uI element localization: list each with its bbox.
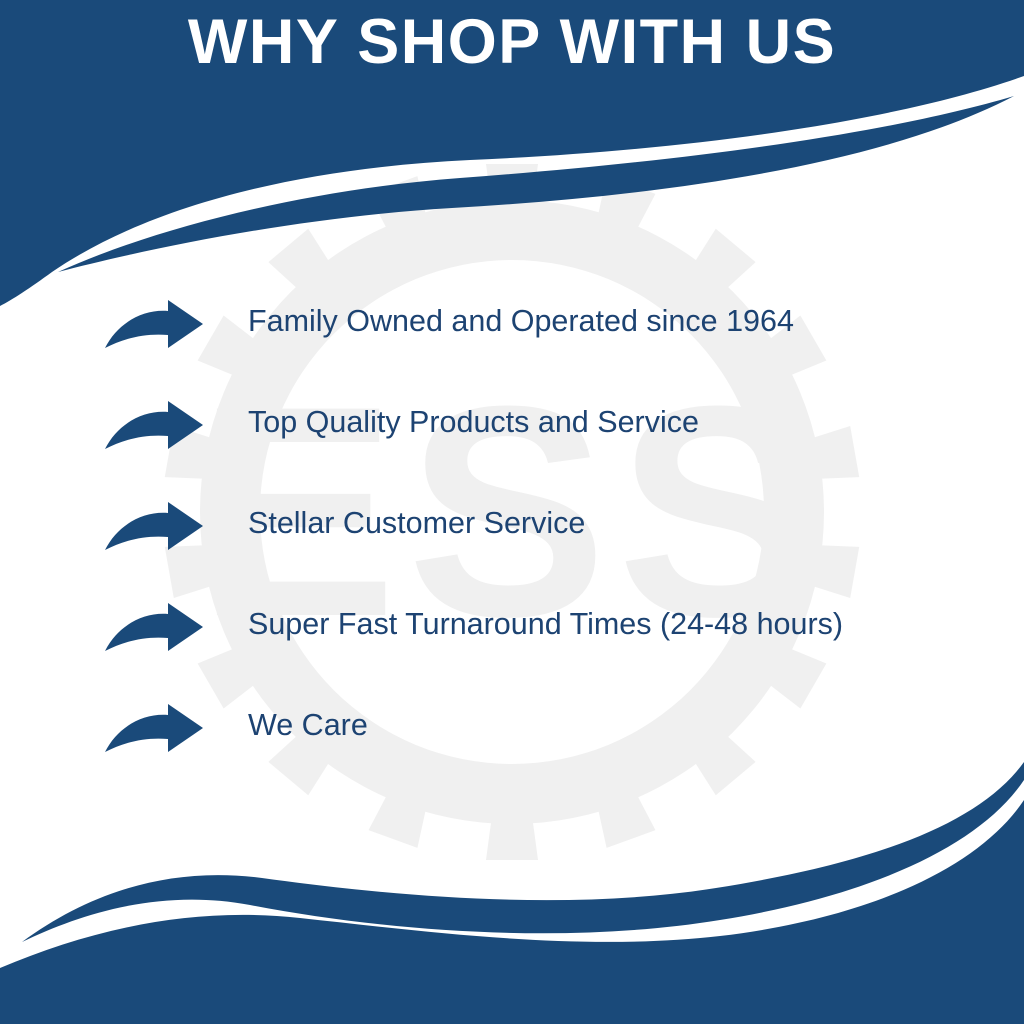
list-item-label: Family Owned and Operated since 1964 [248, 298, 984, 344]
curved-arrow-right-icon [104, 603, 204, 659]
list-item: Super Fast Turnaround Times (24-48 hours… [104, 599, 984, 700]
list-item: Family Owned and Operated since 1964 [104, 296, 984, 397]
curved-arrow-right-icon [104, 502, 204, 558]
benefits-list: Family Owned and Operated since 1964 Top… [104, 296, 984, 801]
list-item: Stellar Customer Service [104, 498, 984, 599]
curved-arrow-right-icon [104, 401, 204, 457]
curved-arrow-right-icon [104, 704, 204, 760]
list-item-label: Stellar Customer Service [248, 500, 984, 546]
page-title: WHY SHOP WITH US [0, 8, 1024, 77]
list-item-label: Top Quality Products and Service [248, 399, 984, 445]
promo-banner: ESS WHY SHOP WITH US Family Owned and Op… [0, 0, 1024, 1024]
curved-arrow-right-icon [104, 300, 204, 356]
list-item: Top Quality Products and Service [104, 397, 984, 498]
list-item: We Care [104, 700, 984, 801]
list-item-label: Super Fast Turnaround Times (24-48 hours… [248, 601, 984, 647]
list-item-label: We Care [248, 702, 984, 748]
